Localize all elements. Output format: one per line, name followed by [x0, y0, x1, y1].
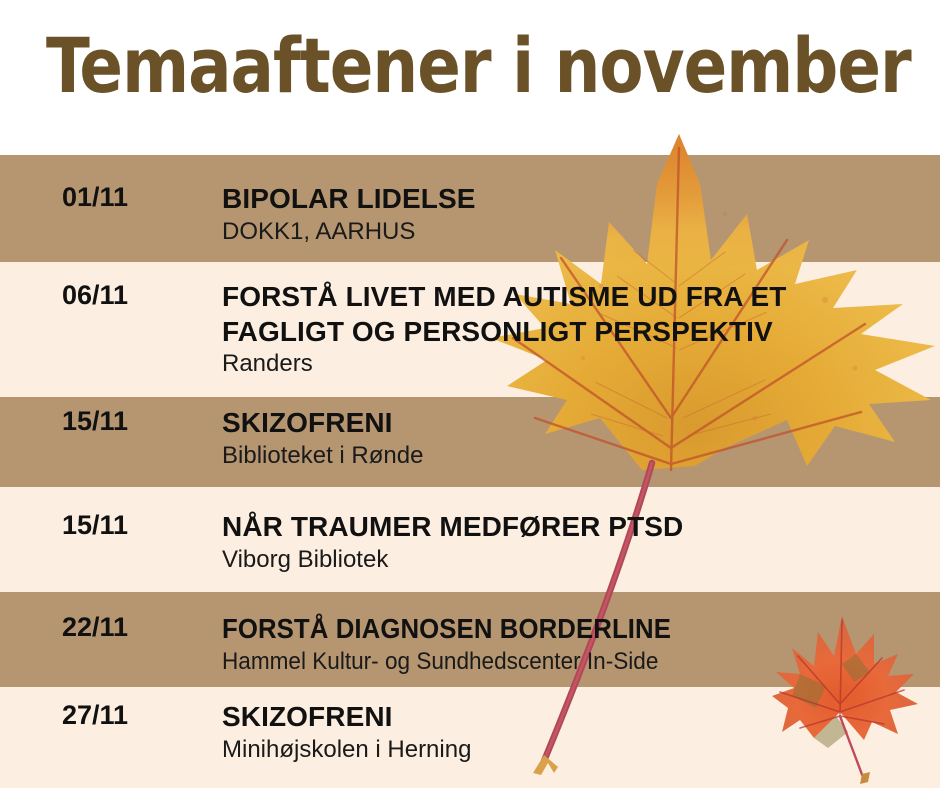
row-band-6 [0, 687, 940, 788]
row-band-1 [0, 155, 940, 262]
row-band-2 [0, 262, 940, 397]
row-band-4 [0, 487, 940, 592]
row-band-3 [0, 397, 940, 487]
page-title: Temaaftener i november [46, 26, 911, 106]
header-band: Temaaftener i november [0, 0, 940, 155]
row-band-5 [0, 592, 940, 687]
poster-canvas: Temaaftener i november [0, 0, 940, 788]
